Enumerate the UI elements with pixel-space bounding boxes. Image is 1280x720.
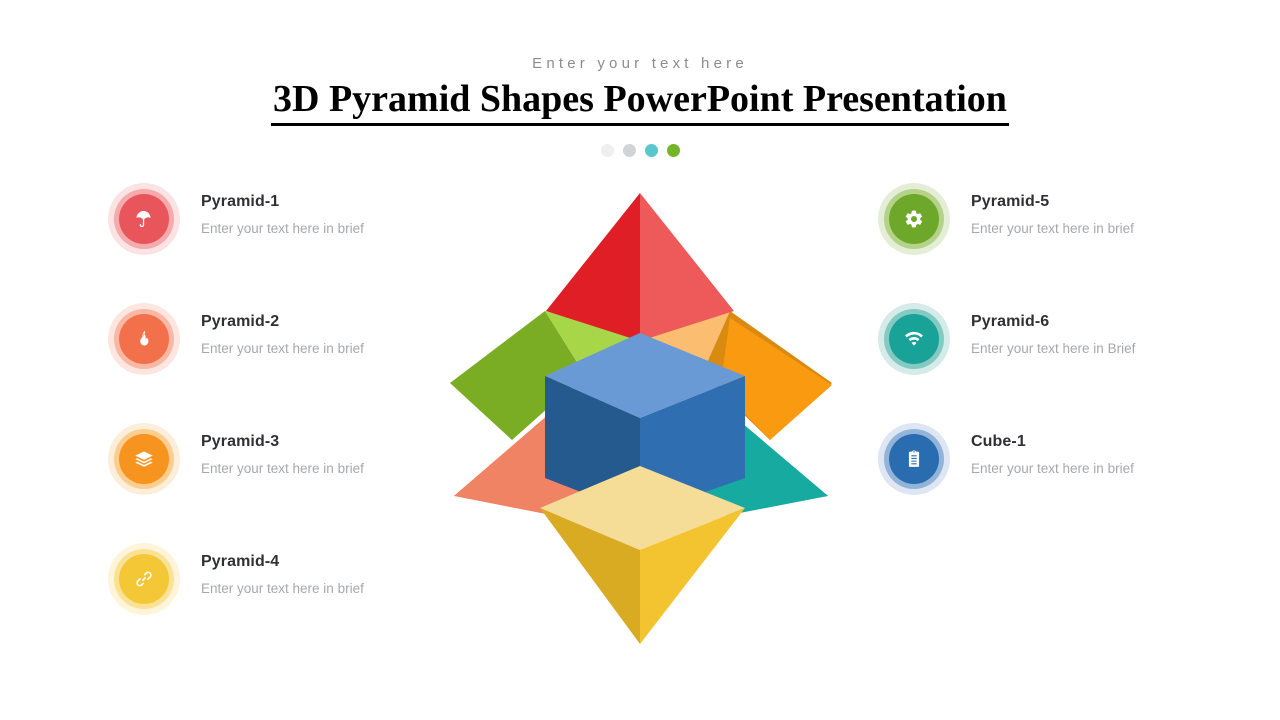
list-item-pyramid-3[interactable]: Pyramid-3 Enter your text here in brief — [108, 423, 438, 543]
gear-icon — [904, 209, 924, 229]
item-title: Pyramid-5 — [971, 193, 1211, 211]
dot-1[interactable] — [601, 144, 614, 157]
3d-pyramid-cube-diagram — [440, 178, 840, 658]
item-text-pyramid-1: Pyramid-1 Enter your text here in brief — [201, 193, 441, 236]
badge-pyramid-5[interactable] — [878, 183, 950, 255]
item-text-pyramid-2: Pyramid-2 Enter your text here in brief — [201, 313, 441, 356]
item-desc: Enter your text here in brief — [971, 221, 1211, 236]
badge-pyramid-6[interactable] — [878, 303, 950, 375]
left-item-column: Pyramid-1 Enter your text here in brief … — [108, 183, 438, 663]
slide-subtitle: Enter your text here — [0, 55, 1280, 72]
badge-pyramid-3[interactable] — [108, 423, 180, 495]
clipboard-icon — [904, 449, 924, 469]
slide-root: Enter your text here 3D Pyramid Shapes P… — [0, 0, 1280, 720]
link-icon — [134, 569, 154, 589]
item-text-pyramid-6: Pyramid-6 Enter your text here in Brief — [971, 313, 1211, 356]
item-desc: Enter your text here in brief — [971, 461, 1211, 476]
item-title: Pyramid-2 — [201, 313, 441, 331]
list-item-pyramid-1[interactable]: Pyramid-1 Enter your text here in brief — [108, 183, 438, 303]
right-item-column: Pyramid-5 Enter your text here in brief … — [878, 183, 1208, 543]
item-desc: Enter your text here in brief — [201, 341, 441, 356]
item-text-pyramid-4: Pyramid-4 Enter your text here in brief — [201, 553, 441, 596]
dot-4[interactable] — [667, 144, 680, 157]
item-text-pyramid-3: Pyramid-3 Enter your text here in brief — [201, 433, 441, 476]
layers-icon — [134, 449, 154, 469]
badge-core — [119, 314, 169, 364]
badge-pyramid-2[interactable] — [108, 303, 180, 375]
badge-pyramid-4[interactable] — [108, 543, 180, 615]
list-item-pyramid-6[interactable]: Pyramid-6 Enter your text here in Brief — [878, 303, 1208, 423]
pyramid-cube-svg — [440, 178, 840, 658]
wifi-icon — [904, 329, 924, 349]
list-item-cube-1[interactable]: Cube-1 Enter your text here in brief — [878, 423, 1208, 543]
page-title: 3D Pyramid Shapes PowerPoint Presentatio… — [271, 80, 1009, 126]
red-pyramid — [546, 193, 734, 341]
list-item-pyramid-2[interactable]: Pyramid-2 Enter your text here in brief — [108, 303, 438, 423]
badge-core — [119, 194, 169, 244]
page-title-wrapper: 3D Pyramid Shapes PowerPoint Presentatio… — [0, 80, 1280, 126]
item-desc: Enter your text here in Brief — [971, 341, 1211, 356]
item-title: Pyramid-1 — [201, 193, 441, 211]
badge-core — [889, 194, 939, 244]
item-title: Pyramid-3 — [201, 433, 441, 451]
list-item-pyramid-5[interactable]: Pyramid-5 Enter your text here in brief — [878, 183, 1208, 303]
badge-core — [119, 434, 169, 484]
dot-indicator — [0, 144, 1280, 157]
item-title: Pyramid-4 — [201, 553, 441, 571]
item-desc: Enter your text here in brief — [201, 581, 441, 596]
slide-header: Enter your text here 3D Pyramid Shapes P… — [0, 0, 1280, 157]
item-text-pyramid-5: Pyramid-5 Enter your text here in brief — [971, 193, 1211, 236]
list-item-pyramid-4[interactable]: Pyramid-4 Enter your text here in brief — [108, 543, 438, 663]
badge-core — [889, 314, 939, 364]
dot-2[interactable] — [623, 144, 636, 157]
flame-icon — [134, 329, 154, 349]
item-title: Pyramid-6 — [971, 313, 1211, 331]
badge-core — [889, 434, 939, 484]
badge-pyramid-1[interactable] — [108, 183, 180, 255]
badge-cube-1[interactable] — [878, 423, 950, 495]
item-desc: Enter your text here in brief — [201, 461, 441, 476]
item-title: Cube-1 — [971, 433, 1211, 451]
item-text-cube-1: Cube-1 Enter your text here in brief — [971, 433, 1211, 476]
umbrella-icon — [134, 209, 154, 229]
dot-3[interactable] — [645, 144, 658, 157]
item-desc: Enter your text here in brief — [201, 221, 441, 236]
badge-core — [119, 554, 169, 604]
